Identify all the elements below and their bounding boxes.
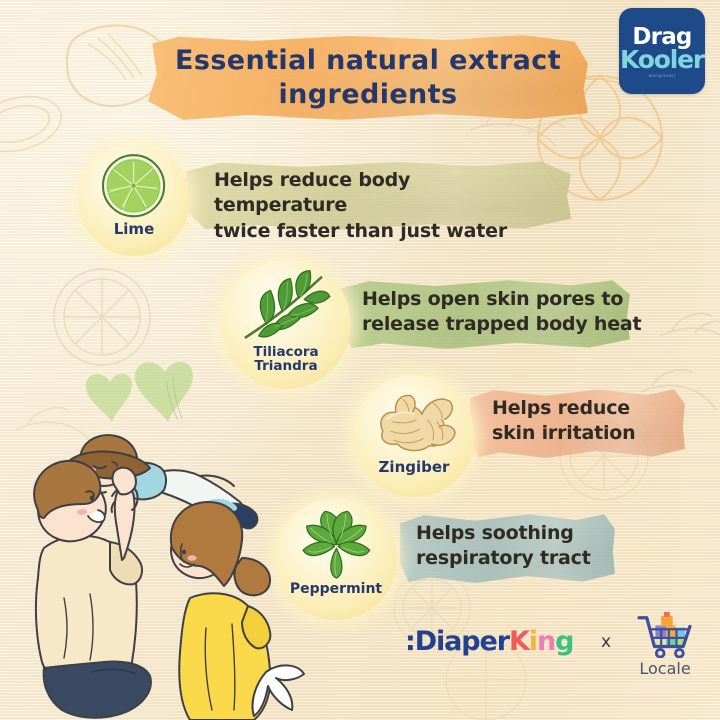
benefit-text-tiliacora: Helps open skin pores to release trapped… [362,287,642,338]
diaperking-letter-g: g [555,626,573,657]
benefit-line-1: Helps soothing [416,521,616,546]
brand-logo[interactable]: Drag Kooler wangiasasi [619,8,705,94]
father-figure [31,461,151,718]
benefit-text-lime: Helps reduce body temperature twice fast… [214,168,544,244]
lime-slice-icon [91,151,176,220]
benefit-text-zingiber: Helps reduce skin irritation [492,396,692,447]
diaperking-prefix: : [405,626,415,657]
diaperking-word-diaper: Diaper [415,626,509,657]
ingredient-badge-lime[interactable]: Lime [78,144,190,256]
diaperking-logo[interactable]: :DiaperKing [405,626,573,657]
benefit-line-2: skin irritation [492,421,692,446]
ingredient-label-tiliacora: Tiliacora Triandra [253,345,318,374]
benefit-line-2: respiratory tract [416,546,616,571]
benefit-line-2: release trapped body heat [362,312,642,337]
leaf-heart-icon [86,362,193,422]
ingredient-label-lime: Lime [114,221,155,237]
diaperking-letter-n: n [537,626,555,657]
benefit-line-1: Helps open skin pores to [362,287,642,312]
ingredient-label-zingiber: Zingiber [379,459,450,475]
page-title-line-2: ingredients [148,78,588,112]
diaperking-letter-i: i [529,626,537,657]
ginger-root-icon [368,382,461,458]
shopping-cart-icon [636,612,694,658]
ingredient-label-line-1: Tiliacora [253,345,318,359]
diaperking-letter-k: K [509,626,529,657]
page-title: Essential natural extract ingredients [148,44,588,113]
brand-name-line-2: Kooler [620,48,704,73]
benefit-line-1: Helps reduce [492,396,692,421]
page-title-line-1: Essential natural extract [148,44,588,78]
benefit-line-1: Helps reduce body temperature [214,168,544,219]
locale-logo[interactable]: Locale [627,612,703,678]
brand-tagline: wangiasasi [649,73,676,78]
ingredient-badge-tiliacora[interactable]: Tiliacora Triandra [221,259,351,389]
citrus-outline-icon [0,88,67,160]
footer-cobrand: :DiaperKing x Locale [405,612,705,687]
leaf-branch-icon [237,266,336,347]
ingredient-badge-zingiber[interactable]: Zingiber [353,375,475,497]
locale-label: Locale [627,659,703,678]
cobrand-separator: x [601,632,611,652]
citrus-slice-outline-icon [54,269,150,365]
family-playing-illustration [0,418,314,720]
poster-canvas: Essential natural extract ingredients Dr… [0,0,720,720]
mother-figure [165,502,304,720]
benefit-line-2: twice faster than just water [214,219,544,244]
benefit-text-peppermint: Helps soothing respiratory tract [416,521,616,572]
ingredient-label-line-2: Triandra [253,359,318,373]
